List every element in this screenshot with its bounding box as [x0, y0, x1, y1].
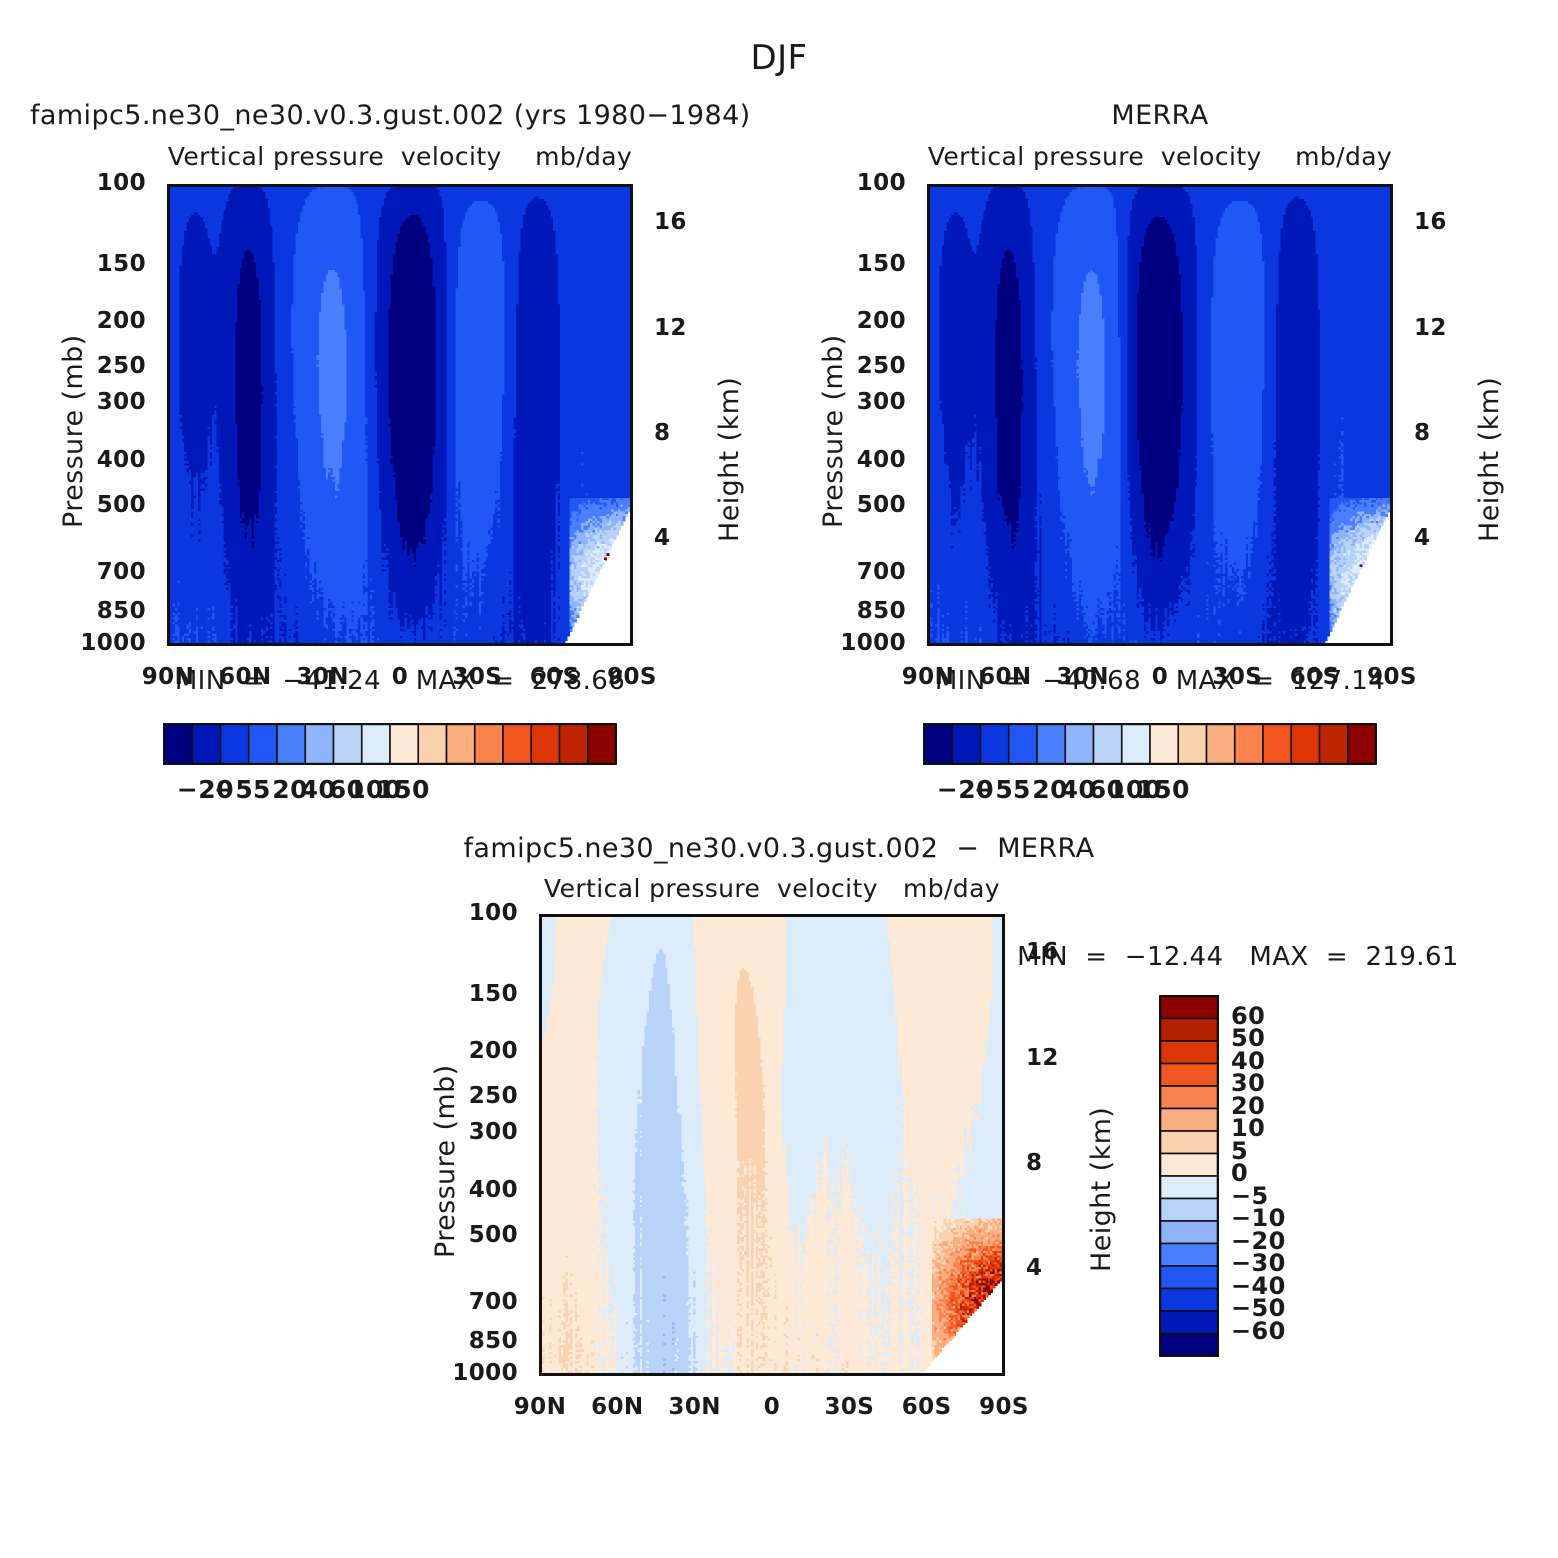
x-ticklabel: 90N	[902, 664, 954, 690]
y2-ticklabel: 12	[1414, 315, 1447, 341]
colorbar-tick-label: 5	[253, 775, 271, 804]
y-ticklabel: 150	[97, 251, 146, 277]
x-ticklabel: 90N	[514, 1394, 566, 1420]
y-ticklabel: 400	[97, 447, 146, 473]
x-ticklabel: 60N	[219, 664, 271, 690]
y2-ticklabel: 8	[1026, 1150, 1042, 1176]
x-ticklabel: 60N	[591, 1394, 643, 1420]
obs-panel-subtitle: Vertical pressure velocity mb/day	[928, 142, 1392, 171]
model-colorbar[interactable]	[163, 723, 617, 765]
y-ticklabel: 100	[469, 900, 518, 926]
colorbar-tick-label: −5	[214, 775, 253, 804]
y-ticklabel: 400	[469, 1177, 518, 1203]
y-ticklabel: 200	[857, 308, 906, 334]
y2-ticklabel: 16	[1414, 209, 1447, 235]
colorbar-tick-label: 5	[1013, 775, 1031, 804]
model-contour-plot[interactable]	[167, 184, 633, 646]
diff-panel-subtitle: Vertical pressure velocity mb/day	[544, 874, 1000, 903]
y-ticklabel: 850	[857, 598, 906, 624]
y-ticklabel: 500	[857, 492, 906, 518]
y2-ticklabel: 16	[1026, 939, 1059, 965]
y-ticklabel: 1000	[80, 630, 146, 656]
model-panel-title: famipc5.ne30_ne30.v0.3.gust.002 (yrs 198…	[30, 100, 751, 131]
y-ticklabel: 300	[857, 389, 906, 415]
diff-panel-title: famipc5.ne30_ne30.v0.3.gust.002 − MERRA	[464, 833, 1095, 864]
x-ticklabel: 60S	[902, 1394, 952, 1420]
model-yaxis-label: Pressure (mb)	[58, 334, 89, 528]
x-ticklabel: 30N	[1056, 664, 1108, 690]
y2-ticklabel: 12	[654, 315, 687, 341]
y-ticklabel: 150	[469, 981, 518, 1007]
y-ticklabel: 100	[857, 170, 906, 196]
x-ticklabel: 30S	[824, 1394, 874, 1420]
x-ticklabel: 60S	[530, 664, 580, 690]
y2-ticklabel: 8	[654, 420, 670, 446]
x-ticklabel: 60N	[979, 664, 1031, 690]
obs-yaxis-label: Pressure (mb)	[818, 334, 849, 528]
y-ticklabel: 250	[469, 1083, 518, 1109]
diff-colorbar[interactable]	[1159, 995, 1219, 1357]
figure-suptitle: DJF	[751, 38, 808, 78]
x-ticklabel: 30S	[1212, 664, 1262, 690]
y-ticklabel: 850	[97, 598, 146, 624]
figure-canvas: DJF famipc5.ne30_ne30.v0.3.gust.002 (yrs…	[0, 0, 1558, 1558]
y-ticklabel: 700	[857, 559, 906, 585]
x-ticklabel: 0	[764, 1394, 780, 1420]
x-ticklabel: 90N	[142, 664, 194, 690]
obs-y2axis-label: Height (km)	[1474, 377, 1505, 542]
diff-minmax-text: MIN = −12.44 MAX = 219.61	[1017, 942, 1459, 972]
y-ticklabel: 300	[469, 1119, 518, 1145]
x-ticklabel: 0	[392, 664, 408, 690]
obs-colorbar[interactable]	[923, 723, 1377, 765]
diff-y2axis-label: Height (km)	[1086, 1107, 1117, 1272]
y-ticklabel: 700	[469, 1289, 518, 1315]
y-ticklabel: 700	[97, 559, 146, 585]
y-ticklabel: 1000	[840, 630, 906, 656]
y-ticklabel: 250	[857, 353, 906, 379]
x-ticklabel: 90S	[979, 1394, 1029, 1420]
y2-ticklabel: 16	[654, 209, 687, 235]
y-ticklabel: 300	[97, 389, 146, 415]
x-ticklabel: 60S	[1290, 664, 1340, 690]
obs-panel-title: MERRA	[1111, 100, 1208, 131]
x-ticklabel: 90S	[607, 664, 657, 690]
y2-ticklabel: 4	[654, 525, 670, 551]
y-ticklabel: 200	[469, 1038, 518, 1064]
y2-ticklabel: 4	[1026, 1255, 1042, 1281]
model-y2axis-label: Height (km)	[714, 377, 745, 542]
y-ticklabel: 1000	[452, 1360, 518, 1386]
diff-yaxis-label: Pressure (mb)	[430, 1064, 461, 1258]
model-panel-subtitle: Vertical pressure velocity mb/day	[168, 142, 632, 171]
y-ticklabel: 500	[469, 1222, 518, 1248]
colorbar-tick-label: 150	[1136, 775, 1189, 804]
y-ticklabel: 150	[857, 251, 906, 277]
y2-ticklabel: 8	[1414, 420, 1430, 446]
x-ticklabel: 90S	[1367, 664, 1417, 690]
x-ticklabel: 30N	[296, 664, 348, 690]
y-ticklabel: 100	[97, 170, 146, 196]
x-ticklabel: 30N	[668, 1394, 720, 1420]
y-ticklabel: 500	[97, 492, 146, 518]
colorbar-tick-label: −5	[974, 775, 1013, 804]
x-ticklabel: 30S	[452, 664, 502, 690]
diff-contour-plot[interactable]	[539, 914, 1005, 1376]
y2-ticklabel: 4	[1414, 525, 1430, 551]
y-ticklabel: 200	[97, 308, 146, 334]
colorbar-tick-label: 150	[376, 775, 429, 804]
y-ticklabel: 250	[97, 353, 146, 379]
obs-contour-plot[interactable]	[927, 184, 1393, 646]
colorbar-tick-label: −60	[1231, 1317, 1286, 1345]
y-ticklabel: 850	[469, 1328, 518, 1354]
y-ticklabel: 400	[857, 447, 906, 473]
y2-ticklabel: 12	[1026, 1045, 1059, 1071]
x-ticklabel: 0	[1152, 664, 1168, 690]
